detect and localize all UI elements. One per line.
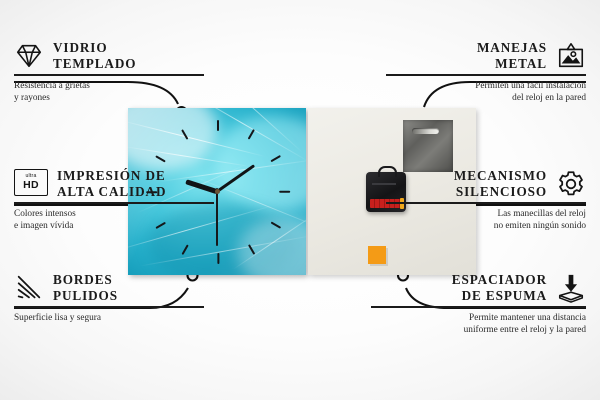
ultra-hd-icon-bottom-text: HD — [23, 180, 39, 191]
feature-title: ESPACIADOR DE ESPUMA — [452, 272, 547, 303]
diamond-icon — [14, 41, 44, 71]
feature-impresion-alta-calidad: ultra HD IMPRESIÓN DE ALTA CALIDAD Color… — [14, 168, 214, 233]
feature-vidrio-templado: VIDRIO TEMPLADO Resistencia a grietas y … — [14, 40, 204, 105]
divider — [14, 74, 204, 76]
feature-espaciador-espuma: ESPACIADOR DE ESPUMA Permite mantener un… — [371, 272, 586, 337]
feature-title: IMPRESIÓN DE ALTA CALIDAD — [57, 168, 166, 199]
divider — [371, 306, 586, 308]
ultra-hd-icon: ultra HD — [14, 169, 48, 199]
feature-manejas-metal: MANEJAS METAL Permiten una fácil instala… — [386, 40, 586, 105]
feature-title: MECANISMO SILENCIOSO — [454, 168, 547, 199]
divider — [386, 74, 586, 76]
foam-spacer — [368, 246, 386, 264]
foam-spacer-icon — [556, 273, 586, 303]
gear-icon — [556, 169, 586, 199]
divider — [14, 202, 214, 204]
feature-description: Permite mantener una distancia uniforme … — [371, 312, 586, 337]
feature-title: MANEJAS METAL — [477, 40, 547, 71]
feature-title: BORDES PULIDOS — [53, 272, 118, 303]
polished-edges-icon — [14, 273, 44, 303]
hanger-slot — [412, 128, 439, 134]
feature-description: Colores intensos e imagen vívida — [14, 208, 214, 233]
hanger-plate — [403, 120, 453, 172]
divider — [14, 306, 204, 308]
picture-frame-icon — [556, 41, 586, 71]
infographic-canvas: VIDRIO TEMPLADO Resistencia a grietas y … — [0, 0, 600, 400]
feature-description: Las manecillas del reloj no emiten ningú… — [386, 208, 586, 233]
feature-description: Permiten una fácil instalación del reloj… — [386, 80, 586, 105]
feature-description: Superficie lisa y segura — [14, 312, 204, 325]
feature-description: Resistencia a grietas y rayones — [14, 80, 204, 105]
feature-title: VIDRIO TEMPLADO — [53, 40, 136, 71]
clock-center-cap — [215, 189, 220, 194]
clock-second-hand — [216, 188, 218, 246]
feature-bordes-pulidos: BORDES PULIDOS Superficie lisa y segura — [14, 272, 204, 324]
divider — [386, 202, 586, 204]
feature-mecanismo-silencioso: MECANISMO SILENCIOSO Las manecillas del … — [386, 168, 586, 233]
